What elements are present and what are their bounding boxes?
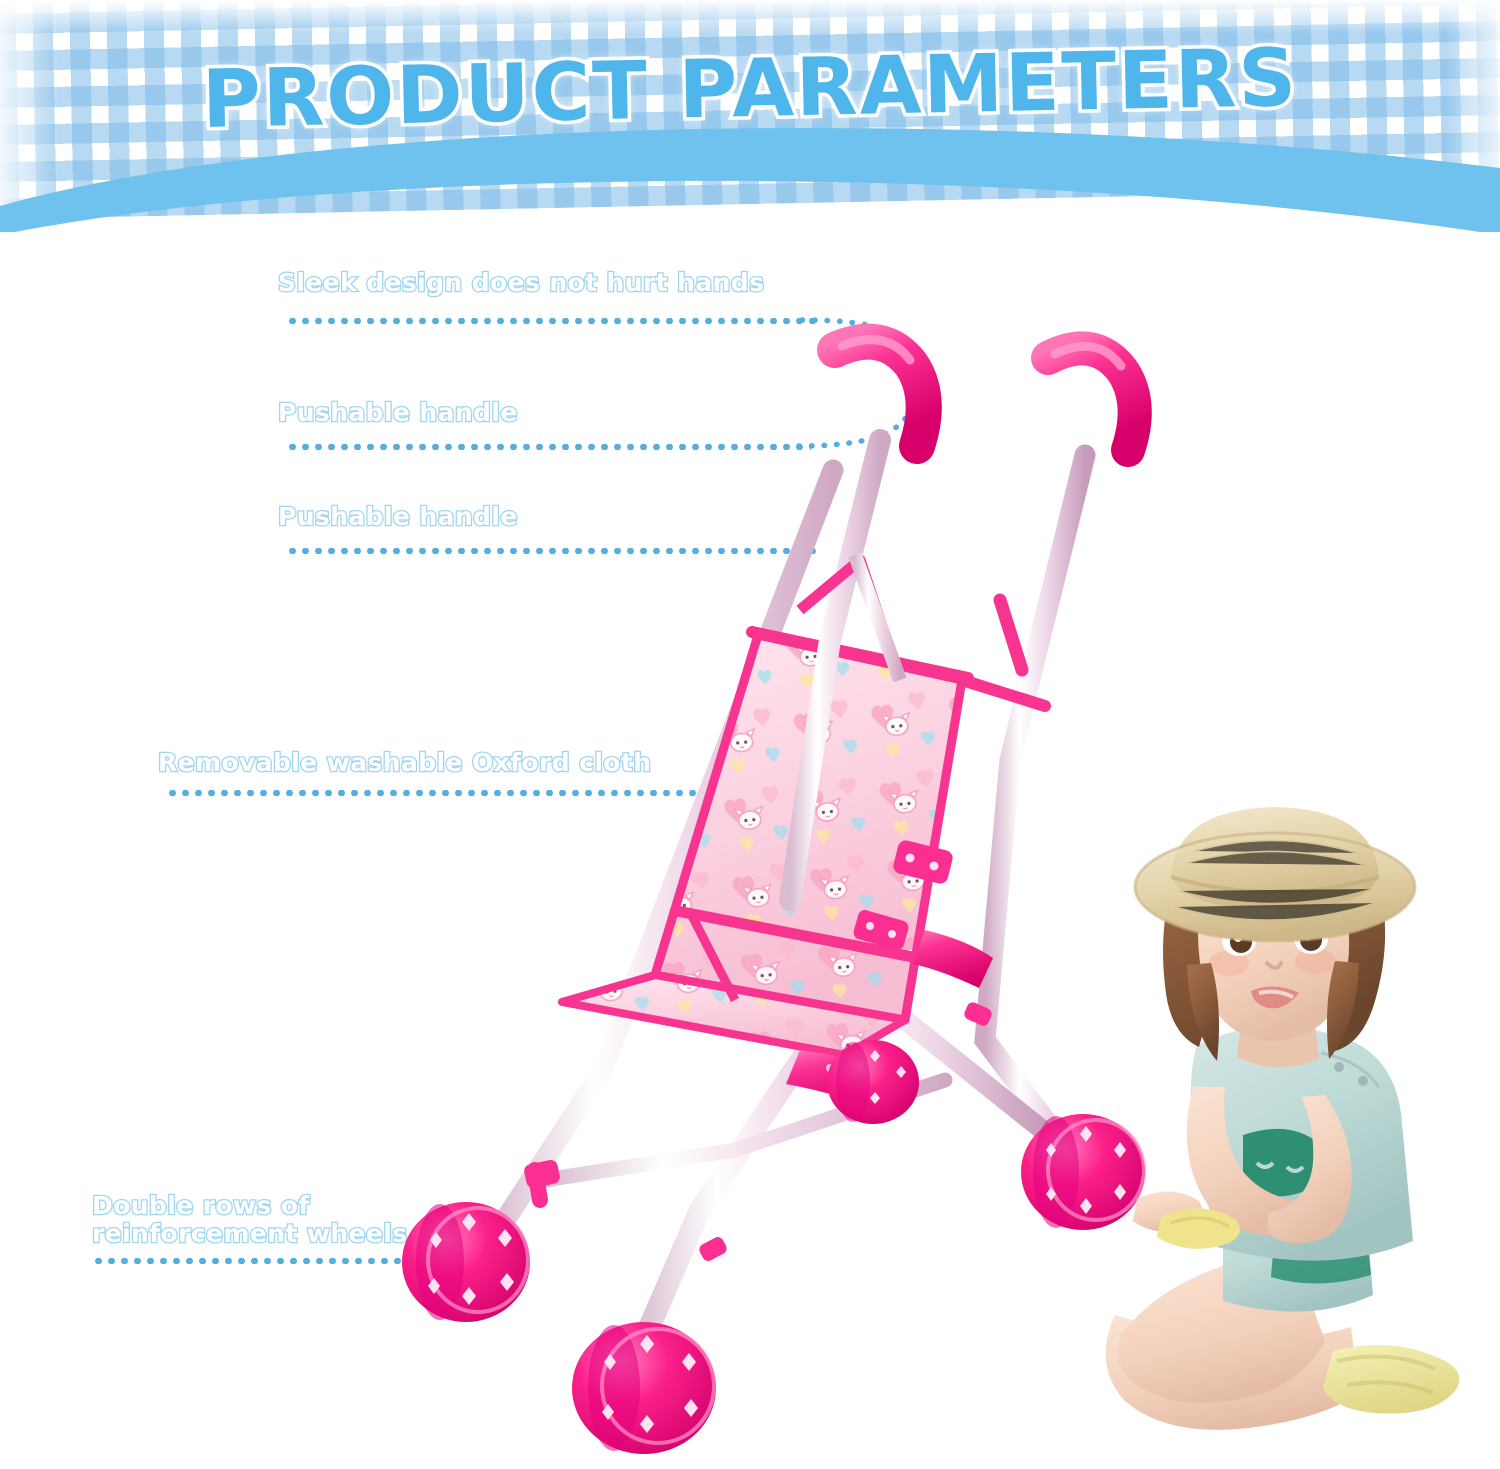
stroller-right-strap [1000,600,1022,670]
child-straw-hat [1135,807,1415,941]
stroller-right-handle [1048,346,1135,450]
stroller-wheel-front-left [572,1322,716,1454]
stroller-right-handle-post [985,455,1085,1140]
toddler-girl-photo [1075,795,1500,1469]
stroller-wheel-rear-right [827,1040,919,1124]
stroller-wheel-rear-left [402,1202,530,1322]
child-socks [1323,1345,1459,1414]
